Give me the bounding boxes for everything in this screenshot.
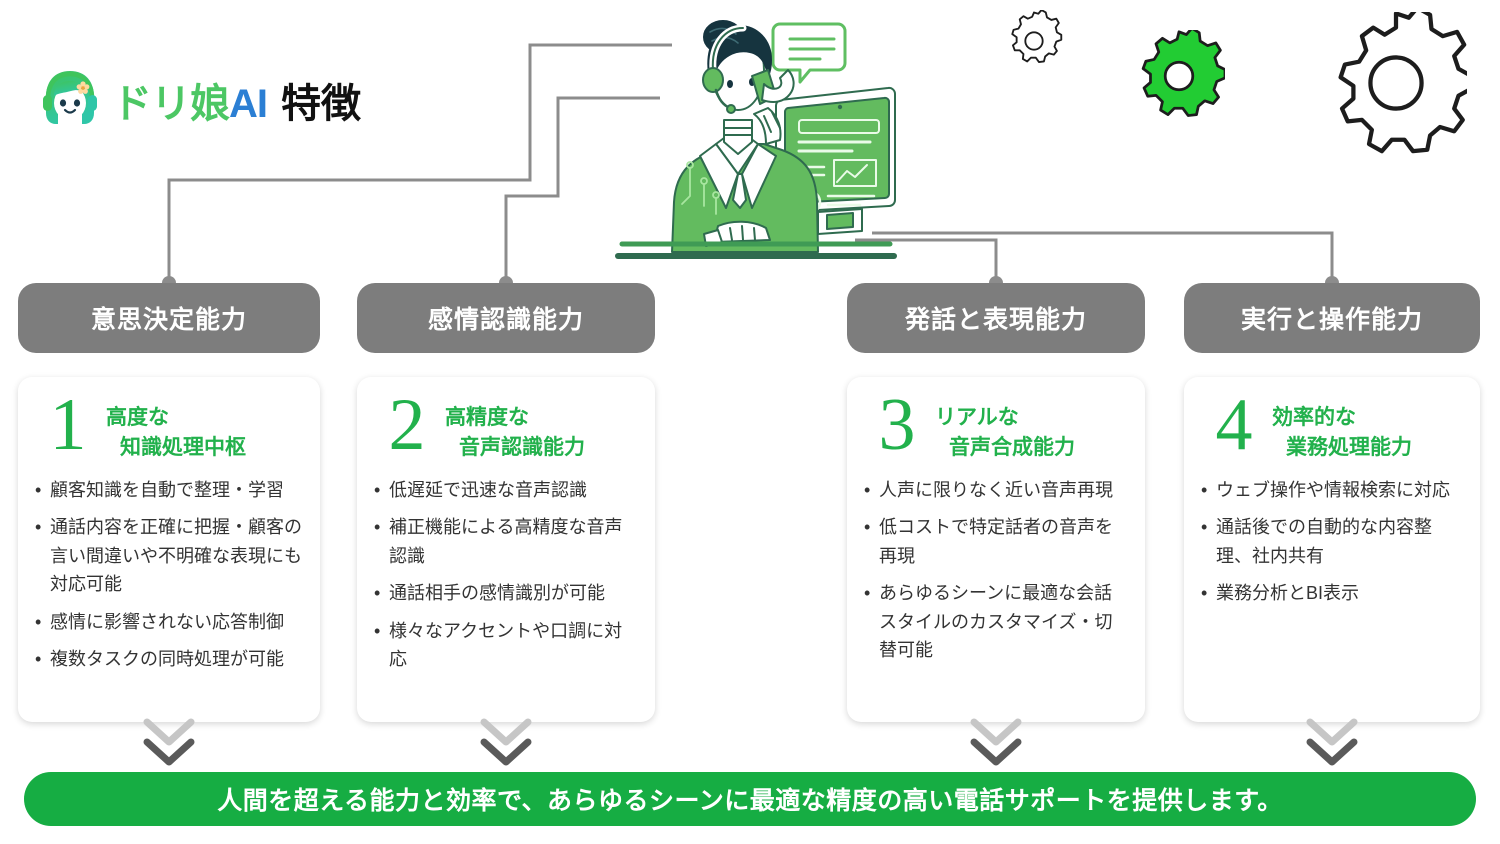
card-number: 3 (867, 393, 925, 458)
card-title: リアルな 音声合成能力 (935, 393, 1075, 464)
list-item: ウェブ操作や情報検索に対応 (1200, 476, 1464, 504)
double-chevron-down-icon (478, 716, 534, 768)
feature-bullet-list: ウェブ操作や情報検索に対応 通話後での自動的な内容整理、社内共有 業務分析とBI… (1198, 476, 1466, 608)
feature-card: 3 リアルな 音声合成能力 人声に限りなく近い音声再現 低コストで特定話者の音声… (847, 377, 1145, 722)
gear-icon (1325, 12, 1467, 154)
card-title-line1: 高精度な (445, 403, 585, 433)
gear-icon (1003, 10, 1065, 72)
brand-logo: ドリ娘 AI 特徴 (38, 68, 361, 132)
summary-banner: 人間を超える能力と効率で、あらゆるシーンに最適な精度の高い電話サポートを提供しま… (24, 772, 1476, 826)
card-title-line2: 知識処理中枢 (120, 433, 246, 463)
capability-pill-execution[interactable]: 実行と操作能力 (1184, 283, 1480, 353)
card-title-line2: 音声合成能力 (949, 433, 1075, 463)
call-center-operator-illustration (612, 12, 902, 274)
list-item: 顧客知識を自動で整理・学習 (34, 476, 304, 504)
brand-name-jp: ドリ娘 (112, 71, 229, 129)
feature-card: 4 効率的な 業務処理能力 ウェブ操作や情報検索に対応 通話後での自動的な内容整… (1184, 377, 1480, 722)
list-item: 通話後での自動的な内容整理、社内共有 (1200, 513, 1464, 570)
gear-icon (1133, 30, 1225, 122)
list-item: 複数タスクの同時処理が可能 (34, 645, 304, 673)
card-title: 高精度な 音声認識能力 (445, 393, 585, 464)
list-item: 様々なアクセントや口調に対応 (373, 617, 639, 674)
capability-pill-decision[interactable]: 意思決定能力 (18, 283, 320, 353)
capability-pill-speech[interactable]: 発話と表現能力 (847, 283, 1145, 353)
card-title: 高度な 知識処理中枢 (106, 393, 246, 464)
card-title-line2: 音声認識能力 (459, 433, 585, 463)
infographic-stage: ドリ娘 AI 特徴 (0, 0, 1500, 844)
double-chevron-down-icon (1304, 716, 1360, 768)
feature-bullet-list: 顧客知識を自動で整理・学習 通話内容を正確に把握・顧客の言い間違いや不明確な表現… (32, 476, 306, 674)
mascot-avatar-icon (38, 68, 102, 132)
list-item: 人声に限りなく近い音声再現 (863, 476, 1129, 504)
page-title: 特徴 (281, 71, 361, 129)
card-header: 4 効率的な 業務処理能力 (1198, 393, 1466, 464)
feature-card: 1 高度な 知識処理中枢 顧客知識を自動で整理・学習 通話内容を正確に把握・顧客… (18, 377, 320, 722)
card-header: 3 リアルな 音声合成能力 (861, 393, 1131, 464)
card-header: 2 高精度な 音声認識能力 (371, 393, 641, 464)
card-header: 1 高度な 知識処理中枢 (32, 393, 306, 464)
feature-bullet-list: 低遅延で迅速な音声認識 補正機能による高精度な音声認識 通話相手の感情識別が可能… (371, 476, 641, 674)
feature-column: 意思決定能力 1 高度な 知識処理中枢 顧客知識を自動で整理・学習 通話内容を正… (18, 283, 320, 722)
card-number: 4 (1204, 393, 1262, 458)
card-title: 効率的な 業務処理能力 (1272, 393, 1412, 464)
list-item: 低コストで特定話者の音声を再現 (863, 513, 1129, 570)
list-item: 通話相手の感情識別が可能 (373, 579, 639, 607)
capability-pill-emotion[interactable]: 感情認識能力 (357, 283, 655, 353)
card-title-line1: リアルな (935, 403, 1075, 433)
list-item: 業務分析とBI表示 (1200, 579, 1464, 607)
card-title-line1: 効率的な (1272, 403, 1412, 433)
list-item: 通話内容を正確に把握・顧客の言い間違いや不明確な表現にも対応可能 (34, 513, 304, 598)
feature-column: 感情認識能力 2 高精度な 音声認識能力 低遅延で迅速な音声認識 補正機能による… (357, 283, 655, 722)
list-item: あらゆるシーンに最適な会話スタイルのカスタマイズ・切替可能 (863, 579, 1129, 664)
card-title-line2: 業務処理能力 (1286, 433, 1412, 463)
card-title-line1: 高度な (106, 403, 246, 433)
card-number: 1 (38, 393, 96, 458)
feature-column: 実行と操作能力 4 効率的な 業務処理能力 ウェブ操作や情報検索に対応 通話後で… (1184, 283, 1480, 722)
feature-bullet-list: 人声に限りなく近い音声再現 低コストで特定話者の音声を再現 あらゆるシーンに最適… (861, 476, 1131, 665)
brand-logo-text: ドリ娘 AI 特徴 (112, 71, 361, 129)
brand-name-ai: AI (229, 82, 267, 127)
double-chevron-down-icon (141, 716, 197, 768)
card-number: 2 (377, 393, 435, 458)
double-chevron-down-icon (968, 716, 1024, 768)
feature-card: 2 高精度な 音声認識能力 低遅延で迅速な音声認識 補正機能による高精度な音声認… (357, 377, 655, 722)
list-item: 低遅延で迅速な音声認識 (373, 476, 639, 504)
list-item: 補正機能による高精度な音声認識 (373, 513, 639, 570)
feature-column: 発話と表現能力 3 リアルな 音声合成能力 人声に限りなく近い音声再現 低コスト… (847, 283, 1145, 722)
list-item: 感情に影響されない応答制御 (34, 608, 304, 636)
